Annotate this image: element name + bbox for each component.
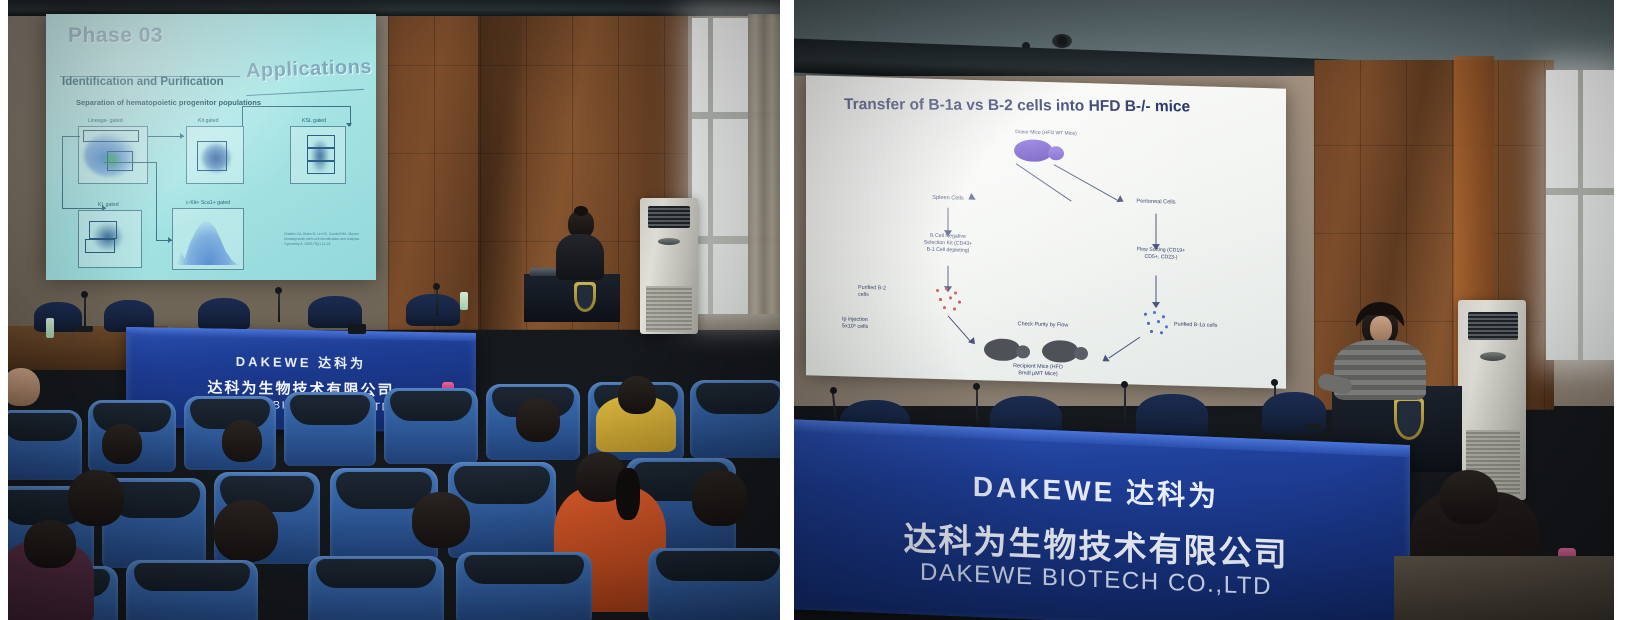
connector-arrowhead-1: [346, 123, 352, 127]
curtain-left: [748, 14, 780, 314]
audience-seat-foreground: [308, 556, 444, 620]
audience-head: [214, 500, 278, 562]
podium-emblem-right: [1394, 398, 1424, 440]
scatter-panel-lineage: [78, 126, 148, 184]
b2-cell-cluster-icon: [934, 287, 964, 312]
edge-peritoneal-flow: [1156, 214, 1157, 248]
mic-stem-r2: [976, 388, 978, 428]
mic-head-r3: [1121, 381, 1128, 388]
speaker-body-left: [556, 234, 604, 280]
audience-seat: [284, 392, 376, 466]
window-mullion-v-right: [1578, 70, 1583, 360]
connector-h-1: [242, 106, 350, 107]
mic-stem-2: [278, 292, 280, 322]
podium-emblem-left: [574, 282, 596, 312]
slide-citation: Challen GA, Boles N, Lin KK, Goodell MA.…: [284, 232, 370, 247]
histogram-curve: [177, 219, 241, 265]
connector-h-3: [62, 136, 80, 137]
wall-pillar: [478, 0, 522, 330]
banner-logo-left: DAKEWE 达科为: [126, 349, 476, 374]
ac-vent-right: [1468, 312, 1518, 340]
projection-screen-right: Transfer of B-1a vs B-2 cells into HFD B…: [806, 75, 1286, 388]
audience-head: [102, 424, 142, 464]
seat-headrest: [134, 563, 250, 591]
ceiling-light-1: [1052, 34, 1072, 48]
connector-h-4: [62, 208, 106, 209]
scatter-panel-ksl: [290, 126, 346, 184]
node-peritoneal: Peritoneal Cells: [1106, 198, 1206, 208]
mic-base-1: [76, 326, 93, 332]
audience-seat-foreground: [456, 552, 592, 620]
ac-badge-right: [1480, 352, 1506, 361]
node-check-purity: Check Purity by Flow: [988, 320, 1098, 330]
gate-box-2: [107, 151, 133, 171]
donor-mouse-icon: [1014, 139, 1052, 162]
gate-box-1: [197, 141, 227, 171]
water-bottle-1: [46, 318, 54, 338]
node-donor: Donor Mice (HFD WT Mice): [976, 128, 1116, 139]
recipient-mouse-1-icon: [984, 338, 1020, 361]
panel-label-lineage: Lineage- gated: [88, 118, 123, 124]
connector-arrowhead-4: [168, 237, 172, 243]
audience-head: [412, 492, 470, 548]
gate-box-1: [307, 135, 335, 148]
slide-heading: Identification and Purification: [62, 76, 224, 88]
mic-head-2: [275, 287, 282, 294]
screen-glare-right: [806, 75, 1286, 388]
audience-ponytail: [616, 468, 640, 520]
recipient-mouse-2-head-icon: [1074, 347, 1088, 360]
water-bottle-2: [460, 292, 468, 310]
node-negative-selection: B Cell Negative Selection Kit (CD43+ B-1…: [892, 232, 1004, 256]
scatter-panel-kit: [186, 126, 244, 184]
front-chair-5: [406, 294, 460, 326]
photo-right: Transfer of B-1a vs B-2 cells into HFD B…: [794, 0, 1614, 620]
audience-head: [692, 470, 748, 526]
seat-headrest: [696, 383, 780, 414]
mic-stem-r3: [1124, 386, 1126, 426]
front-chair-1: [34, 302, 82, 332]
slide-title-right: Transfer of B-1a vs B-2 cells into HFD B…: [844, 96, 1191, 116]
donor-mouse-head-icon: [1048, 146, 1064, 160]
panel-label-kit: Kit gated: [198, 118, 218, 124]
node-purified-b1a: Purified B-1a cells: [1174, 322, 1280, 332]
connector-v-4: [156, 162, 157, 240]
connector-v-1: [242, 106, 243, 126]
recipient-mouse-1-head-icon: [1016, 345, 1030, 358]
speaker-face-right: [1370, 316, 1392, 342]
audience-seat: [690, 380, 780, 458]
scatter-panel-kl: [78, 210, 142, 268]
audience-seat-foreground: [648, 548, 780, 620]
panel-label-ksl: KSL gated: [302, 118, 326, 124]
photo-left: Phase 03 Applications Identification and…: [8, 0, 780, 620]
node-recipient-mice: Recipient Mice (HFD Bmdl µMT Mice): [978, 362, 1098, 380]
mic-head-1: [81, 291, 88, 298]
seat-headrest: [316, 559, 436, 588]
mic-head-r2: [973, 383, 980, 390]
ac-badge-left: [658, 238, 680, 245]
projection-screen-left: Phase 03 Applications Identification and…: [46, 14, 376, 280]
front-chair-3: [198, 298, 250, 330]
audience-head: [222, 420, 262, 462]
gate-box-2: [307, 148, 335, 161]
audience-head: [24, 520, 76, 568]
audience-head-yellow: [618, 376, 656, 414]
audience-head-left-edge: [8, 368, 40, 406]
edge-b1a-recipient: [1109, 337, 1141, 359]
table-object-1: [348, 324, 366, 334]
ac-grill-left: [646, 286, 692, 332]
edge-b2-recipient: [948, 315, 973, 343]
mic-head-3: [433, 283, 440, 290]
mic-stem-3: [436, 288, 438, 316]
node-flow-sorting: Flow Sorting (CD19+ CD5+, CD23-): [1106, 246, 1216, 263]
podium-left: [524, 274, 620, 322]
gate-box-1: [89, 221, 117, 239]
slide-phase-title: Phase 03: [68, 24, 163, 48]
seat-headrest: [454, 466, 549, 504]
slide-applications-title: Applications: [246, 56, 373, 83]
mic-base-r2: [1306, 424, 1323, 430]
speaker-hair-bun-left: [574, 206, 588, 216]
dakewe-banner-right: DAKEWE 达科为 达科为生物技术有限公司 DAKEWE BIOTECH CO…: [794, 419, 1410, 620]
node-ip-injection: Ip injection 5x10⁵ cells: [842, 316, 920, 333]
audience-head: [68, 470, 124, 526]
audience-seat: [384, 388, 478, 464]
mic-stem-1: [84, 296, 86, 328]
panel-label-ckit-sca1: c-Kit+ Sca1+ gated: [186, 200, 230, 206]
gate-box-1: [83, 130, 139, 142]
gate-box-3: [307, 161, 335, 174]
ac-vent-left: [648, 206, 690, 228]
connector-v-3: [62, 136, 63, 208]
seat-headrest: [656, 551, 779, 581]
connector-arrowhead-3: [102, 205, 106, 211]
audience-head-right-fg: [1440, 470, 1498, 524]
seat-headrest: [464, 555, 584, 584]
slide-divider-2: [246, 89, 364, 96]
seat-headrest: [390, 391, 473, 421]
audience-seat-foreground: [126, 560, 258, 620]
front-chair-r3: [1136, 394, 1208, 438]
connector-arrowhead-2: [180, 133, 184, 139]
seat-headrest: [290, 395, 371, 425]
photo-gallery: Phase 03 Applications Identification and…: [0, 0, 1628, 620]
connector-h-5: [104, 162, 156, 163]
mic-head-r1: [830, 387, 837, 394]
histogram-panel: [172, 208, 244, 270]
recipient-mouse-2-icon: [1042, 340, 1078, 363]
audience-seat: [8, 410, 82, 480]
mic-head-r4: [1271, 379, 1278, 386]
node-spleen: Spleen Cells: [902, 194, 994, 204]
b1a-cell-cluster-icon: [1142, 311, 1170, 336]
edge-arrow-flow-b1a: [1152, 302, 1160, 308]
floor-right: [1394, 556, 1614, 620]
connector-h-2: [148, 136, 184, 137]
audience-head: [516, 398, 560, 442]
slide-subheading: Separation of hematopoietic progenitor p…: [76, 98, 261, 107]
seat-headrest: [8, 413, 77, 441]
node-purified-b2: Purified B-2 cells: [858, 285, 928, 302]
window-mullion-v: [708, 18, 713, 314]
edge-arrow-b1a-recipient: [1100, 355, 1110, 365]
gate-box-2: [85, 239, 115, 253]
